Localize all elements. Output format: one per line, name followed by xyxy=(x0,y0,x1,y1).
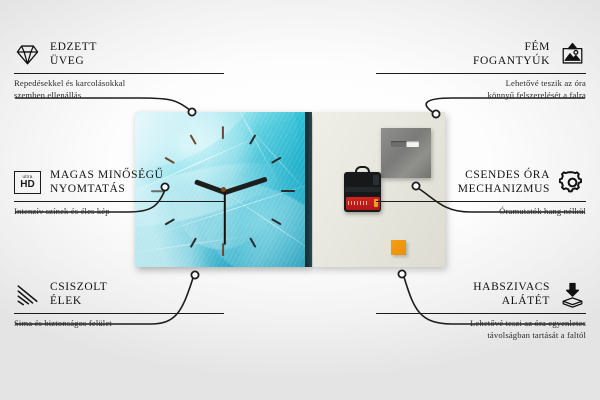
feature-head: CSENDES ÓRA MECHANIZMUS xyxy=(376,168,586,197)
feature-divider xyxy=(14,201,224,202)
polished-glass-edge xyxy=(305,112,312,267)
feature-title: HABSZIVACS ALÁTÉT xyxy=(473,280,550,309)
feature-divider xyxy=(376,201,586,202)
hanger-slot xyxy=(391,141,419,147)
feature-metal-handles: FÉM FOGANTYÚK Lehetővé teszik az óra kön… xyxy=(376,40,586,102)
feature-title: FÉM FOGANTYÚK xyxy=(473,40,550,69)
feature-description: Repedésekkel és karcolásokkal szemben el… xyxy=(14,78,224,102)
mechanism-hook xyxy=(355,166,370,175)
infographic-stage: EDZETT ÜVEG Repedésekkel és karcolásokka… xyxy=(0,0,600,400)
gear-icon xyxy=(559,169,586,196)
feature-description: Óramutatók hang nélkül xyxy=(376,206,586,218)
minute-hand xyxy=(222,176,267,195)
second-hand xyxy=(224,188,226,244)
battery xyxy=(346,197,380,210)
feature-divider xyxy=(14,313,224,314)
feature-head: EDZETT ÜVEG xyxy=(14,40,224,69)
feature-polished-edges: CSISZOLT ÉLEK Sima és biztonságos felüle… xyxy=(14,280,224,330)
foam-pad-press-icon xyxy=(559,281,586,308)
feature-description: Sima és biztonságos felület xyxy=(14,318,224,330)
feature-head: ultra HD MAGAS MINŐSÉGŰ NYOMTATÁS xyxy=(14,168,224,197)
feature-description: Lehetővé teszik az óra könnyű felszerelé… xyxy=(376,78,586,102)
feature-title: CSENDES ÓRA MECHANIZMUS xyxy=(458,168,550,197)
feature-title: CSISZOLT ÉLEK xyxy=(50,280,107,309)
feature-description: Lehetővé teszi az óra egyenletes távolsá… xyxy=(376,318,586,342)
feature-head: CSISZOLT ÉLEK xyxy=(14,280,224,309)
feature-divider xyxy=(376,73,586,74)
feature-divider xyxy=(376,313,586,314)
feature-description: Intenzív színek és éles kép xyxy=(14,206,224,218)
picture-frame-hanger-icon xyxy=(559,41,586,68)
feature-foam-pad: HABSZIVACS ALÁTÉT Lehetővé teszi az óra … xyxy=(376,280,586,342)
feature-head: FÉM FOGANTYÚK xyxy=(376,40,586,69)
diamond-icon xyxy=(14,41,41,68)
feature-tempered-glass: EDZETT ÜVEG Repedésekkel és karcolásokka… xyxy=(14,40,224,102)
polished-edges-icon xyxy=(14,281,41,308)
feature-head: HABSZIVACS ALÁTÉT xyxy=(376,280,586,309)
mechanism-ridge xyxy=(345,187,380,192)
feature-title: MAGAS MINŐSÉGŰ NYOMTATÁS xyxy=(50,168,164,197)
ultra-hd-badge-icon: ultra HD xyxy=(14,171,41,194)
feature-high-quality-print: ultra HD MAGAS MINŐSÉGŰ NYOMTATÁS Intenz… xyxy=(14,168,224,218)
foam-spacer-pad xyxy=(391,240,406,255)
feature-divider xyxy=(14,73,224,74)
feature-title: EDZETT ÜVEG xyxy=(50,40,97,69)
feature-silent-mechanism: CSENDES ÓRA MECHANIZMUS Óramutatók hang … xyxy=(376,168,586,218)
